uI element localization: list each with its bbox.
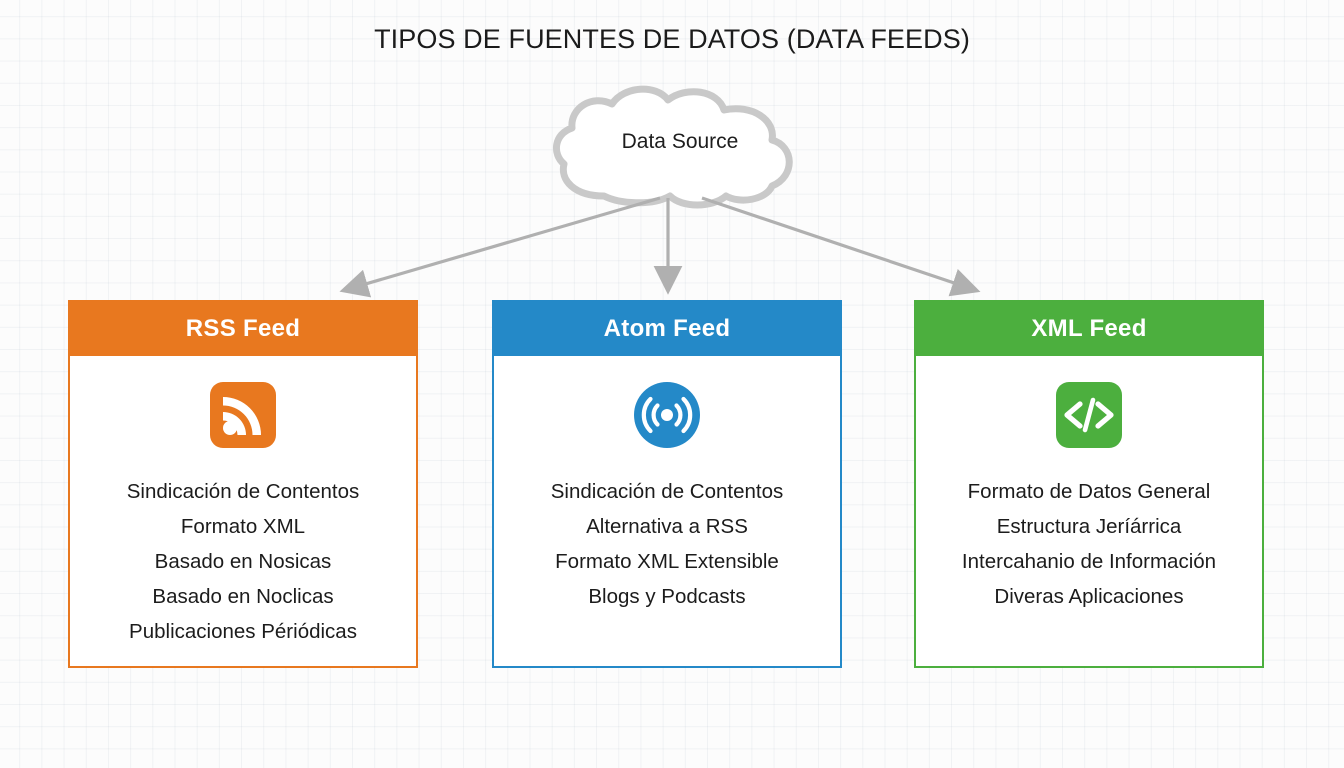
card-xml-header: XML Feed: [916, 302, 1262, 356]
diagram-canvas: TIPOS DE FUENTES DE DATOS (DATA FEEDS) D…: [0, 0, 1344, 768]
card-atom-line: Blogs y Podcasts: [494, 579, 840, 614]
card-rss-line: Formato XML: [70, 509, 416, 544]
card-xml-feed[interactable]: XML Feed Formato de Datos General Estruc…: [914, 300, 1264, 668]
card-atom-line: Alternativa a RSS: [494, 509, 840, 544]
card-atom-line: Formato XML Extensible: [494, 544, 840, 579]
page-title: TIPOS DE FUENTES DE DATOS (DATA FEEDS): [0, 24, 1344, 55]
card-rss-body: Sindicación de Contentos Formato XML Bas…: [70, 356, 416, 666]
data-source-label: Data Source: [540, 130, 820, 154]
card-xml-line: Intercahanio de Información: [916, 544, 1262, 579]
card-xml-line: Estructura Jeríárrica: [916, 509, 1262, 544]
card-xml-lines: Formato de Datos General Estructura Jerí…: [916, 474, 1262, 614]
broadcast-signal-icon: [634, 382, 700, 448]
card-rss-line: Sindicación de Contentos: [70, 474, 416, 509]
card-rss-feed[interactable]: RSS Feed Sindicación de Contentos Format…: [68, 300, 418, 668]
card-rss-header: RSS Feed: [70, 302, 416, 356]
card-xml-line: Formato de Datos General: [916, 474, 1262, 509]
card-atom-lines: Sindicación de Contentos Alternativa a R…: [494, 474, 840, 614]
card-xml-body: Formato de Datos General Estructura Jerí…: [916, 356, 1262, 666]
card-rss-line: Publicaciones Périódicas: [70, 614, 416, 649]
card-atom-header: Atom Feed: [494, 302, 840, 356]
card-xml-line: Diveras Aplicaciones: [916, 579, 1262, 614]
card-rss-line: Basado en Nosicas: [70, 544, 416, 579]
code-brackets-icon: [1056, 382, 1122, 448]
rss-icon: [210, 382, 276, 448]
data-source-node: Data Source: [540, 84, 820, 214]
card-atom-body: Sindicación de Contentos Alternativa a R…: [494, 356, 840, 666]
card-rss-lines: Sindicación de Contentos Formato XML Bas…: [70, 474, 416, 649]
card-atom-feed[interactable]: Atom Feed Sindicación de Contentos Alter…: [492, 300, 842, 668]
card-rss-line: Basado en Noclicas: [70, 579, 416, 614]
card-atom-line: Sindicación de Contentos: [494, 474, 840, 509]
